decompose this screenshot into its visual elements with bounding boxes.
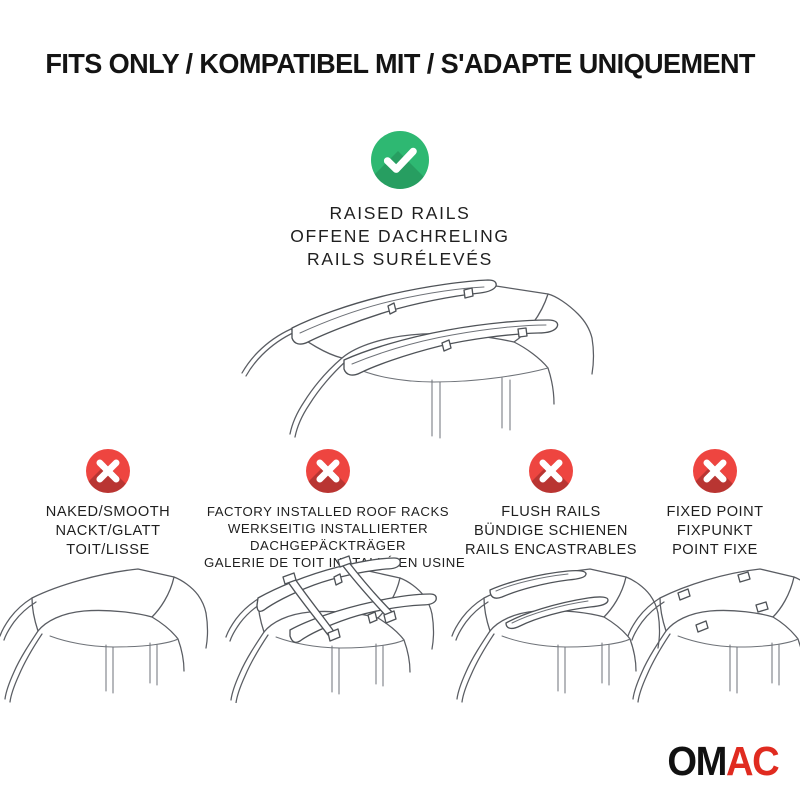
compatible-section: RAISED RAILS OFFENE DACHRELING RAILS SUR…: [0, 131, 800, 270]
car-roof-naked-smooth-illustration: [0, 553, 212, 703]
incompatible-item-factory-racks: FACTORY INSTALLED ROOF RACKS WERKSEITIG …: [204, 449, 452, 572]
incompatible-item-fixed-point: FIXED POINT FIXPUNKT POINT FIXE: [630, 449, 800, 560]
page-title: FITS ONLY / KOMPATIBEL MIT / S'ADAPTE UN…: [45, 48, 754, 80]
compatible-label-fr: RAILS SURÉLEVÉS: [0, 248, 800, 271]
cross-icon: [306, 449, 350, 493]
label-de: NACKT/GLATT: [0, 522, 216, 541]
incompatible-item-flush-rails: FLUSH RAILS BÜNDIGE SCHIENEN RAILS ENCAS…: [452, 449, 650, 560]
label-de: BÜNDIGE SCHIENEN: [452, 522, 650, 541]
cross-icon: [693, 449, 737, 493]
label-en: FIXED POINT: [630, 503, 800, 522]
car-roof-with-factory-crossbars-illustration: [224, 541, 438, 703]
compatible-labels: RAISED RAILS OFFENE DACHRELING RAILS SUR…: [0, 202, 800, 270]
label-en: FLUSH RAILS: [452, 503, 650, 522]
omac-logo: OMAC: [667, 741, 778, 782]
label-de: FIXPUNKT: [630, 522, 800, 541]
label-en: NAKED/SMOOTH: [0, 503, 216, 522]
item-labels: FLUSH RAILS BÜNDIGE SCHIENEN RAILS ENCAS…: [452, 503, 650, 560]
compatible-label-en: RAISED RAILS: [0, 202, 800, 225]
logo-text-red: AC: [726, 738, 778, 784]
item-labels: FIXED POINT FIXPUNKT POINT FIXE: [630, 503, 800, 560]
cross-icon: [529, 449, 573, 493]
car-roof-with-raised-rails-illustration: [196, 276, 616, 446]
label-de-1: WERKSEITIG INSTALLIERTER: [204, 520, 452, 537]
label-en: FACTORY INSTALLED ROOF RACKS: [204, 503, 452, 520]
compatible-label-de: OFFENE DACHRELING: [0, 225, 800, 248]
check-icon: [371, 131, 429, 189]
car-roof-with-fixed-points-illustration: [626, 553, 800, 703]
incompatible-item-naked: NAKED/SMOOTH NACKT/GLATT TOIT/LISSE: [0, 449, 216, 560]
header: FITS ONLY / KOMPATIBEL MIT / S'ADAPTE UN…: [0, 48, 800, 80]
item-labels: NAKED/SMOOTH NACKT/GLATT TOIT/LISSE: [0, 503, 216, 560]
cross-icon: [86, 449, 130, 493]
logo-text-dark: OM: [667, 738, 726, 784]
infographic-page: FITS ONLY / KOMPATIBEL MIT / S'ADAPTE UN…: [0, 0, 800, 800]
